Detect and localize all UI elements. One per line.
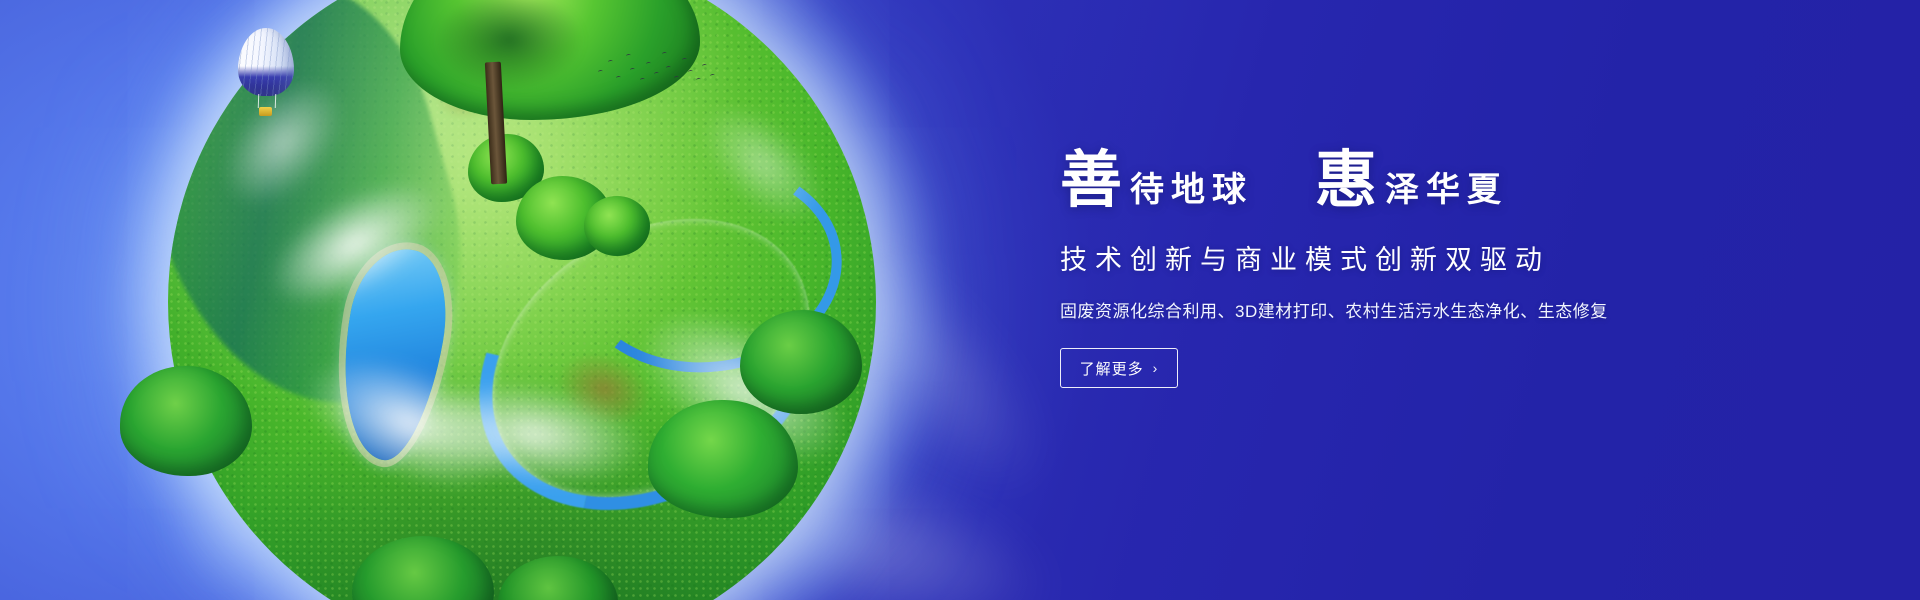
tree-icon <box>352 536 494 600</box>
headline-phrase-2: 泽华夏 <box>1377 174 1508 214</box>
hero-banner: 善 待地球 惠 泽华夏 技术创新与商业模式创新双驱动 固废资源化综合利用、3D建… <box>0 0 1920 600</box>
hero-tree-icon <box>400 0 700 184</box>
page-title: 善 待地球 惠 泽华夏 <box>1060 150 1680 214</box>
hero-copy-block: 善 待地球 惠 泽华夏 技术创新与商业模式创新双驱动 固废资源化综合利用、3D建… <box>1060 150 1680 388</box>
chevron-right-icon: › <box>1153 360 1159 376</box>
bird-flock-icon <box>596 48 720 90</box>
hero-subtitle: 技术创新与商业模式创新双驱动 <box>1060 238 1680 277</box>
learn-more-label: 了解更多 <box>1080 358 1144 379</box>
headline-char-1: 善 <box>1060 150 1122 214</box>
hero-tagline: 固废资源化综合利用、3D建材打印、农村生活污水生态净化、生态修复 <box>1060 297 1680 322</box>
tree-icon <box>498 556 618 600</box>
tree-icon <box>120 366 252 486</box>
tree-icon <box>584 196 650 260</box>
hot-air-balloon-icon <box>238 28 294 124</box>
headline-phrase-1: 待地球 <box>1122 174 1253 214</box>
tree-icon <box>740 310 862 422</box>
learn-more-button[interactable]: 了解更多 › <box>1060 348 1178 388</box>
headline-char-2: 惠 <box>1315 150 1377 214</box>
